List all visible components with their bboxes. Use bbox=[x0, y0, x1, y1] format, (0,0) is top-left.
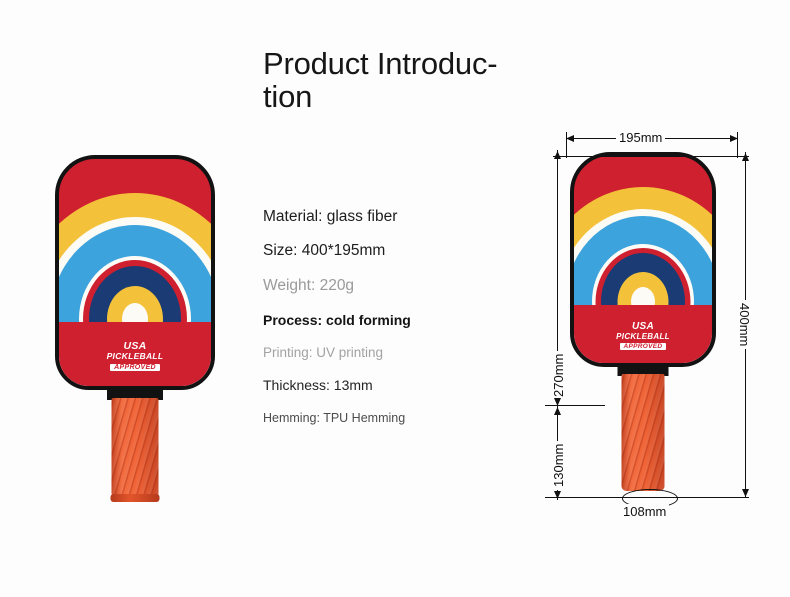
dimension-arrowheads bbox=[0, 0, 790, 597]
product-introduction-page: Product Introduc- tion Material: glass f… bbox=[0, 0, 790, 597]
